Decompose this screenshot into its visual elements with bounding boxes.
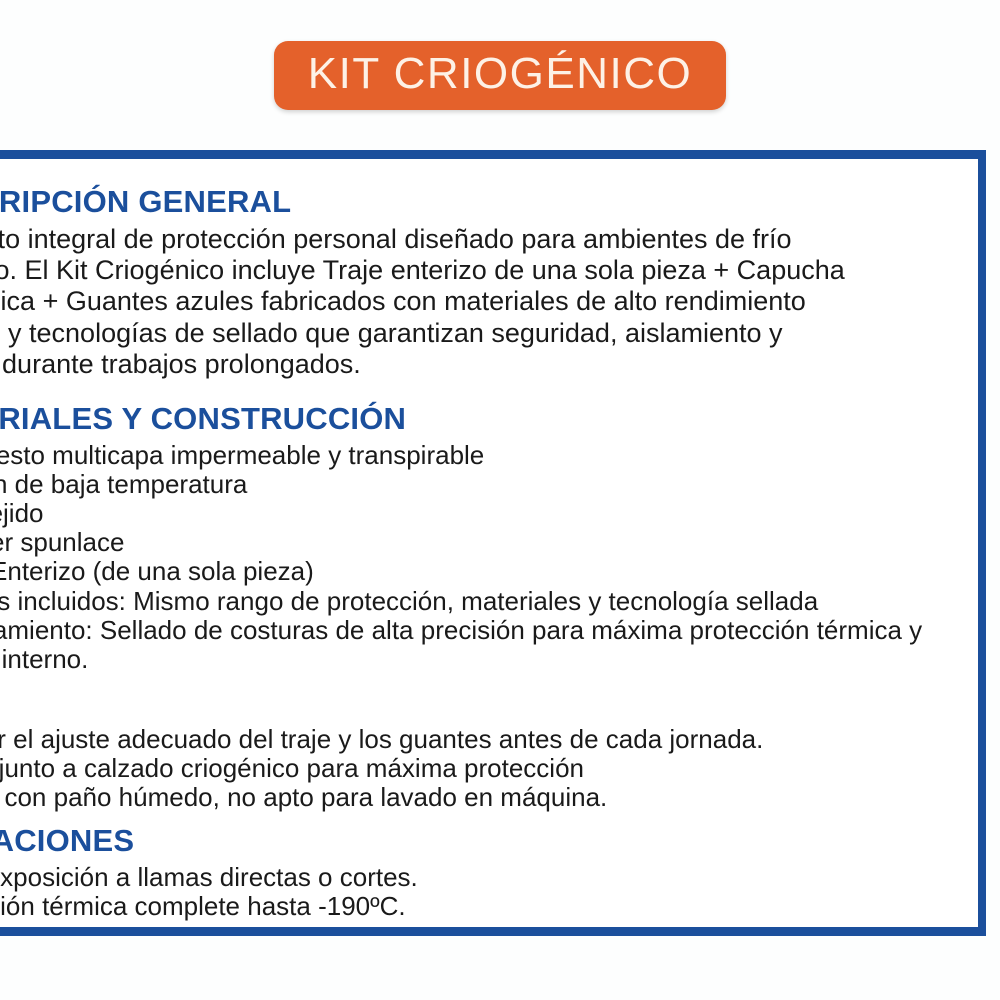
kit-title-label: KIT CRIOGÉNICO (308, 52, 692, 96)
list-item: Evitar exposición a llamas directas o co… (0, 863, 986, 892)
list-item: Poliéster spunlace (0, 528, 986, 557)
list-item: Compuesto multicapa impermeable y transp… (0, 441, 986, 470)
spec-sheet-panel: DESCRIPCIÓN GENERAL Conjunto integral de… (0, 150, 986, 936)
spacer (0, 380, 986, 402)
descripcion-line: extremo. El Kit Criogénico incluye Traje… (0, 255, 986, 286)
list-item: Utilizar junto a calzado criogénico para… (0, 754, 986, 783)
descripcion-line: Conjunto integral de protección personal… (0, 224, 986, 255)
section-heading-usos: USOS (0, 686, 986, 721)
list-item: Guantes incluidos: Mismo rango de protec… (0, 587, 986, 616)
list-item: Forro tejido (0, 499, 986, 528)
materiales-list: Compuesto multicapa impermeable y transp… (0, 441, 986, 674)
descripcion-line: criogénica + Guantes azules fabricados c… (0, 286, 986, 317)
list-item: sellado interno. (0, 645, 986, 674)
usos-list: Verificar el ajuste adecuado del traje y… (0, 725, 986, 812)
kit-title-badge: KIT CRIOGÉNICO (274, 41, 726, 110)
title-badge-row: KIT CRIOGÉNICO (0, 0, 1000, 150)
list-item: Algodón de baja temperatura (0, 470, 986, 499)
descripcion-paragraph: Conjunto integral de protección personal… (0, 224, 986, 381)
limitaciones-list: Evitar exposición a llamas directas o co… (0, 863, 986, 921)
list-item: Verificar el ajuste adecuado del traje y… (0, 725, 986, 754)
section-heading-limitaciones: LIMITACIONES (0, 824, 986, 859)
spacer (0, 674, 986, 686)
spec-sheet-content: DESCRIPCIÓN GENERAL Conjunto integral de… (0, 159, 986, 921)
spacer (0, 812, 986, 824)
descripcion-line: térmico y tecnologías de sellado que gar… (0, 318, 986, 349)
descripcion-line: confort durante trabajos prolongados. (0, 349, 986, 380)
list-item: Limpiar con paño húmedo, no apto para la… (0, 783, 986, 812)
list-item: Estilo: Enterizo (de una sola pieza) (0, 557, 986, 586)
list-item: Protección térmica complete hasta -190ºC… (0, 892, 986, 921)
section-heading-descripcion: DESCRIPCIÓN GENERAL (0, 185, 986, 220)
list-item: Procesamiento: Sellado de costuras de al… (0, 616, 986, 645)
section-heading-materiales: MATERIALES Y CONSTRUCCIÓN (0, 402, 986, 437)
